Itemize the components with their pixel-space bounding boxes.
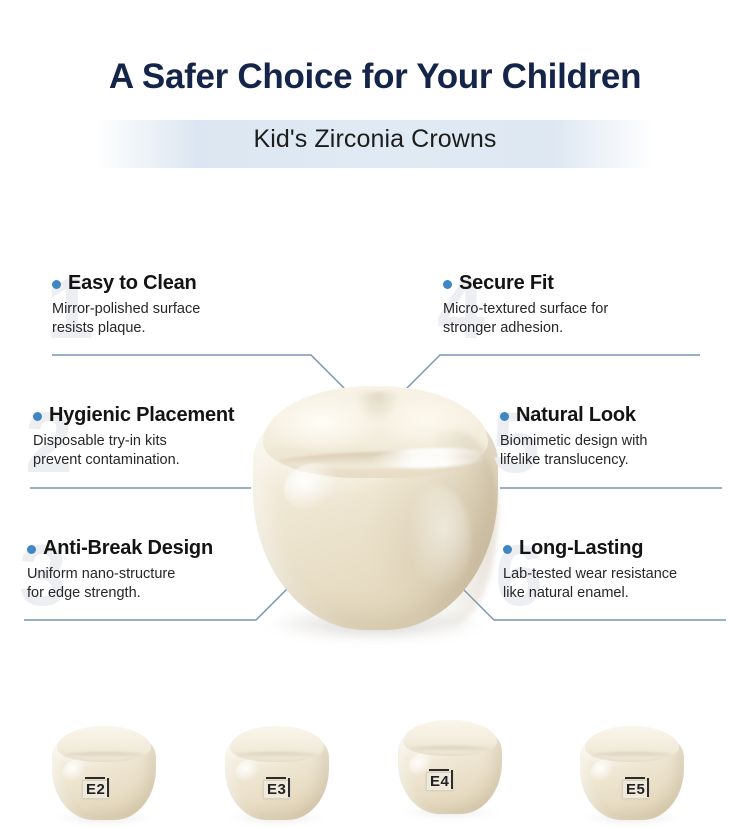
bullet-dot-icon bbox=[52, 280, 61, 289]
feature-description: Mirror-polished surface resists plaque. bbox=[52, 300, 200, 337]
bullet-dot-icon bbox=[33, 412, 42, 421]
feature-secure-fit: 4 Secure Fit Micro-textured surface for … bbox=[443, 272, 608, 337]
bullet-dot-icon bbox=[27, 545, 36, 554]
feature-description: Micro-textured surface for stronger adhe… bbox=[443, 300, 608, 337]
feature-title: Natural Look bbox=[516, 404, 636, 427]
feature-easy-to-clean: 1 Easy to Clean Mirror-polished surface … bbox=[52, 272, 200, 337]
crown-sample-groove bbox=[237, 752, 317, 759]
crown-sample-e4: E4 bbox=[398, 722, 502, 814]
crown-size-label: E4 bbox=[426, 772, 453, 791]
feature-hygienic-placement: 2 Hygienic Placement Disposable try-in k… bbox=[33, 404, 234, 469]
bullet-dot-icon bbox=[443, 280, 452, 289]
bullet-dot-icon bbox=[500, 412, 509, 421]
crown-size-row: E2 E3 E4 E5 bbox=[0, 706, 750, 829]
feature-title: Anti-Break Design bbox=[43, 537, 213, 560]
crown-size-label: E2 bbox=[82, 780, 109, 799]
page-title: A Safer Choice for Your Children bbox=[0, 57, 750, 97]
zirconia-crown-image bbox=[253, 390, 498, 630]
crown-cusp-notch bbox=[357, 392, 399, 422]
crown-highlight-right bbox=[405, 486, 471, 594]
feature-title: Secure Fit bbox=[459, 272, 554, 295]
header: A Safer Choice for Your Children Kid's Z… bbox=[0, 0, 750, 185]
feature-title: Hygienic Placement bbox=[49, 404, 234, 427]
crown-sample-groove bbox=[410, 746, 490, 753]
crown-size-label: E3 bbox=[263, 780, 290, 799]
feature-description: Disposable try-in kits prevent contamina… bbox=[33, 432, 234, 469]
feature-title: Long-Lasting bbox=[519, 537, 643, 560]
feature-anti-break-design: 3 Anti-Break Design Uniform nano-structu… bbox=[27, 537, 213, 602]
feature-title: Easy to Clean bbox=[68, 272, 197, 295]
page-subtitle: Kid's Zirconia Crowns bbox=[0, 125, 750, 154]
feature-description: Biomimetic design with lifelike transluc… bbox=[500, 432, 647, 469]
crown-sample-e3: E3 bbox=[225, 728, 329, 820]
crown-size-label: E5 bbox=[622, 780, 649, 799]
crown-sample-e2: E2 bbox=[52, 728, 156, 820]
bullet-dot-icon bbox=[503, 545, 512, 554]
feature-long-lasting: 6 Long-Lasting Lab-tested wear resistanc… bbox=[503, 537, 677, 602]
crown-sample-e5: E5 bbox=[580, 728, 684, 820]
feature-description: Uniform nano-structure for edge strength… bbox=[27, 565, 213, 602]
crown-sample-groove bbox=[64, 752, 144, 759]
feature-description: Lab-tested wear resistance like natural … bbox=[503, 565, 677, 602]
crown-sample-groove bbox=[592, 752, 672, 759]
feature-natural-look: 5 Natural Look Biomimetic design with li… bbox=[500, 404, 647, 469]
